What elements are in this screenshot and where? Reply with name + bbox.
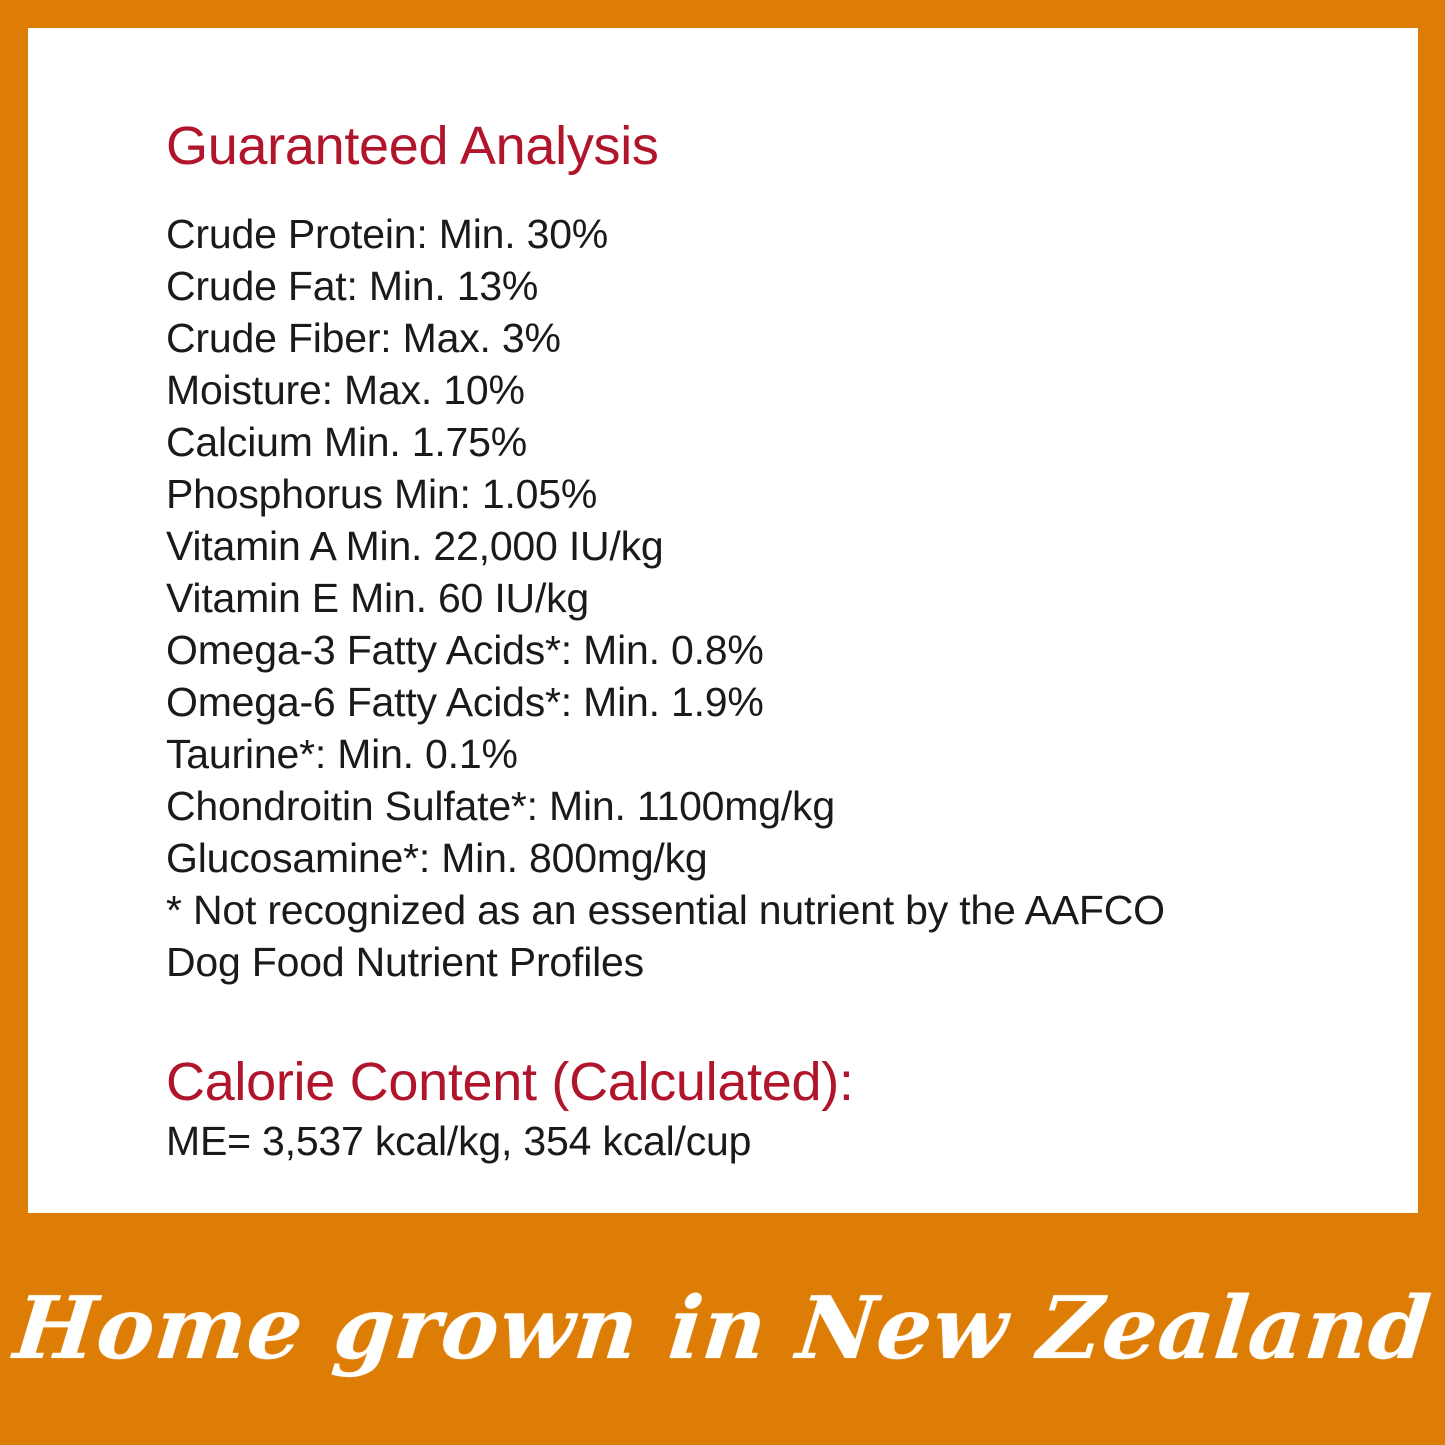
guaranteed-analysis-heading: Guaranteed Analysis bbox=[166, 118, 1388, 174]
footnote-line: * Not recognized as an essential nutrien… bbox=[166, 884, 1388, 936]
calorie-content-heading: Calorie Content (Calculated): bbox=[166, 1054, 1388, 1110]
analysis-item: Vitamin A Min. 22,000 IU/kg bbox=[166, 520, 1388, 572]
footnote-line: Dog Food Nutrient Profiles bbox=[166, 936, 1388, 988]
analysis-item: Omega-3 Fatty Acids*: Min. 0.8% bbox=[166, 624, 1388, 676]
analysis-item: Glucosamine*: Min. 800mg/kg bbox=[166, 832, 1388, 884]
footer-banner: Home grown in New Zealand bbox=[0, 1213, 1445, 1445]
pet-food-label-card: Guaranteed Analysis Crude Protein: Min. … bbox=[0, 0, 1445, 1445]
analysis-item: Moisture: Max. 10% bbox=[166, 364, 1388, 416]
footer-tagline: Home grown in New Zealand bbox=[10, 1286, 1434, 1372]
nutrition-panel-content: Guaranteed Analysis Crude Protein: Min. … bbox=[166, 118, 1388, 1168]
analysis-item: Omega-6 Fatty Acids*: Min. 1.9% bbox=[166, 676, 1388, 728]
analysis-item: Chondroitin Sulfate*: Min. 1100mg/kg bbox=[166, 780, 1388, 832]
analysis-item: Crude Protein: Min. 30% bbox=[166, 208, 1388, 260]
analysis-footnote: * Not recognized as an essential nutrien… bbox=[166, 884, 1388, 988]
analysis-item: Phosphorus Min: 1.05% bbox=[166, 468, 1388, 520]
calorie-content-value: ME= 3,537 kcal/kg, 354 kcal/cup bbox=[166, 1114, 1388, 1168]
calorie-content-block: Calorie Content (Calculated): ME= 3,537 … bbox=[166, 1054, 1388, 1168]
analysis-item: Vitamin E Min. 60 IU/kg bbox=[166, 572, 1388, 624]
nutrition-panel: Guaranteed Analysis Crude Protein: Min. … bbox=[28, 28, 1418, 1213]
guaranteed-analysis-list: Crude Protein: Min. 30% Crude Fat: Min. … bbox=[166, 208, 1388, 884]
analysis-item: Taurine*: Min. 0.1% bbox=[166, 728, 1388, 780]
analysis-item: Crude Fiber: Max. 3% bbox=[166, 312, 1388, 364]
analysis-item: Crude Fat: Min. 13% bbox=[166, 260, 1388, 312]
analysis-item: Calcium Min. 1.75% bbox=[166, 416, 1388, 468]
